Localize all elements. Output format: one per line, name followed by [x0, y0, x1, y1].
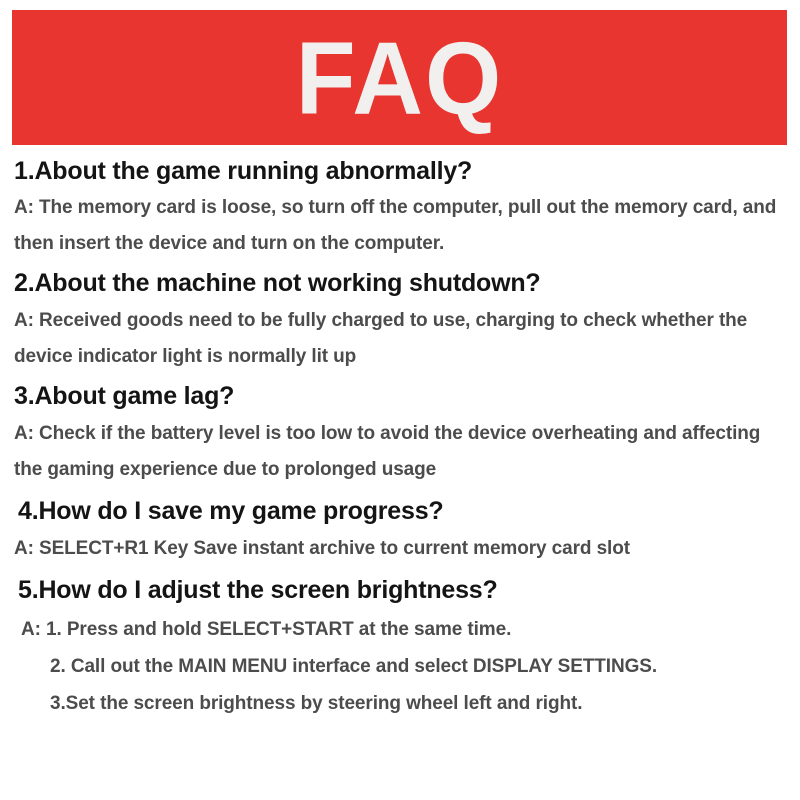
- faq-question-5: 5.How do I adjust the screen brightness?: [0, 575, 800, 606]
- faq-answer-3: A: Check if the battery level is too low…: [0, 416, 800, 488]
- faq-question-1: 1.About the game running abnormally?: [0, 156, 800, 187]
- faq-answer-5-step-3: 3.Set the screen brightness by steering …: [0, 685, 800, 722]
- faq-entry-1: 1.About the game running abnormally? A: …: [0, 156, 800, 262]
- faq-question-4: 4.How do I save my game progress?: [0, 496, 800, 527]
- faq-content: 1.About the game running abnormally? A: …: [0, 150, 800, 722]
- faq-header-banner: FAQ: [12, 10, 787, 145]
- faq-answer-5-step-1: A: 1. Press and hold SELECT+START at the…: [0, 611, 800, 648]
- faq-entry-5: 5.How do I adjust the screen brightness?…: [0, 575, 800, 722]
- faq-entry-3: 3.About game lag? A: Check if the batter…: [0, 381, 800, 488]
- faq-answer-5-step-2: 2. Call out the MAIN MENU interface and …: [0, 648, 800, 685]
- faq-entry-2: 2.About the machine not working shutdown…: [0, 268, 800, 375]
- faq-question-3: 3.About game lag?: [0, 381, 800, 412]
- faq-answer-5-steps: A: 1. Press and hold SELECT+START at the…: [0, 611, 800, 722]
- faq-answer-4: A: SELECT+R1 Key Save instant archive to…: [0, 531, 800, 567]
- faq-page: FAQ 1.About the game running abnormally?…: [0, 0, 800, 800]
- faq-question-2: 2.About the machine not working shutdown…: [0, 268, 800, 299]
- faq-entry-4: 4.How do I save my game progress? A: SEL…: [0, 496, 800, 567]
- faq-answer-2: A: Received goods need to be fully charg…: [0, 303, 800, 375]
- page-title: FAQ: [296, 26, 503, 129]
- faq-answer-1: A: The memory card is loose, so turn off…: [0, 190, 800, 262]
